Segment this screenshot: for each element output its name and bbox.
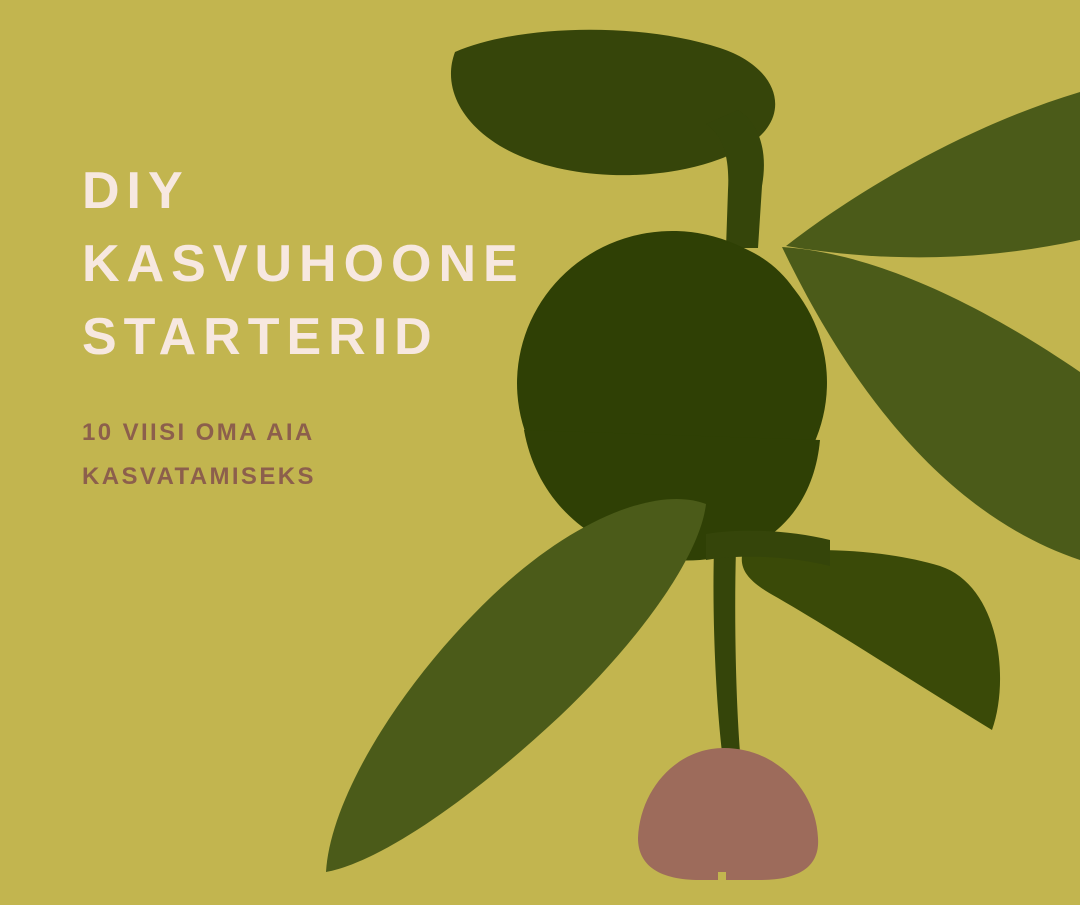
poster-canvas: DIY KASVUHOONE STARTERID 10 VIISI OMA AI… — [0, 0, 1080, 905]
seed-notch — [718, 872, 726, 886]
page-subtitle: 10 VIISI OMA AIA KASVATAMISEKS — [82, 374, 642, 499]
text-block: DIY KASVUHOONE STARTERID 10 VIISI OMA AI… — [82, 155, 642, 499]
page-title: DIY KASVUHOONE STARTERID — [82, 155, 642, 374]
